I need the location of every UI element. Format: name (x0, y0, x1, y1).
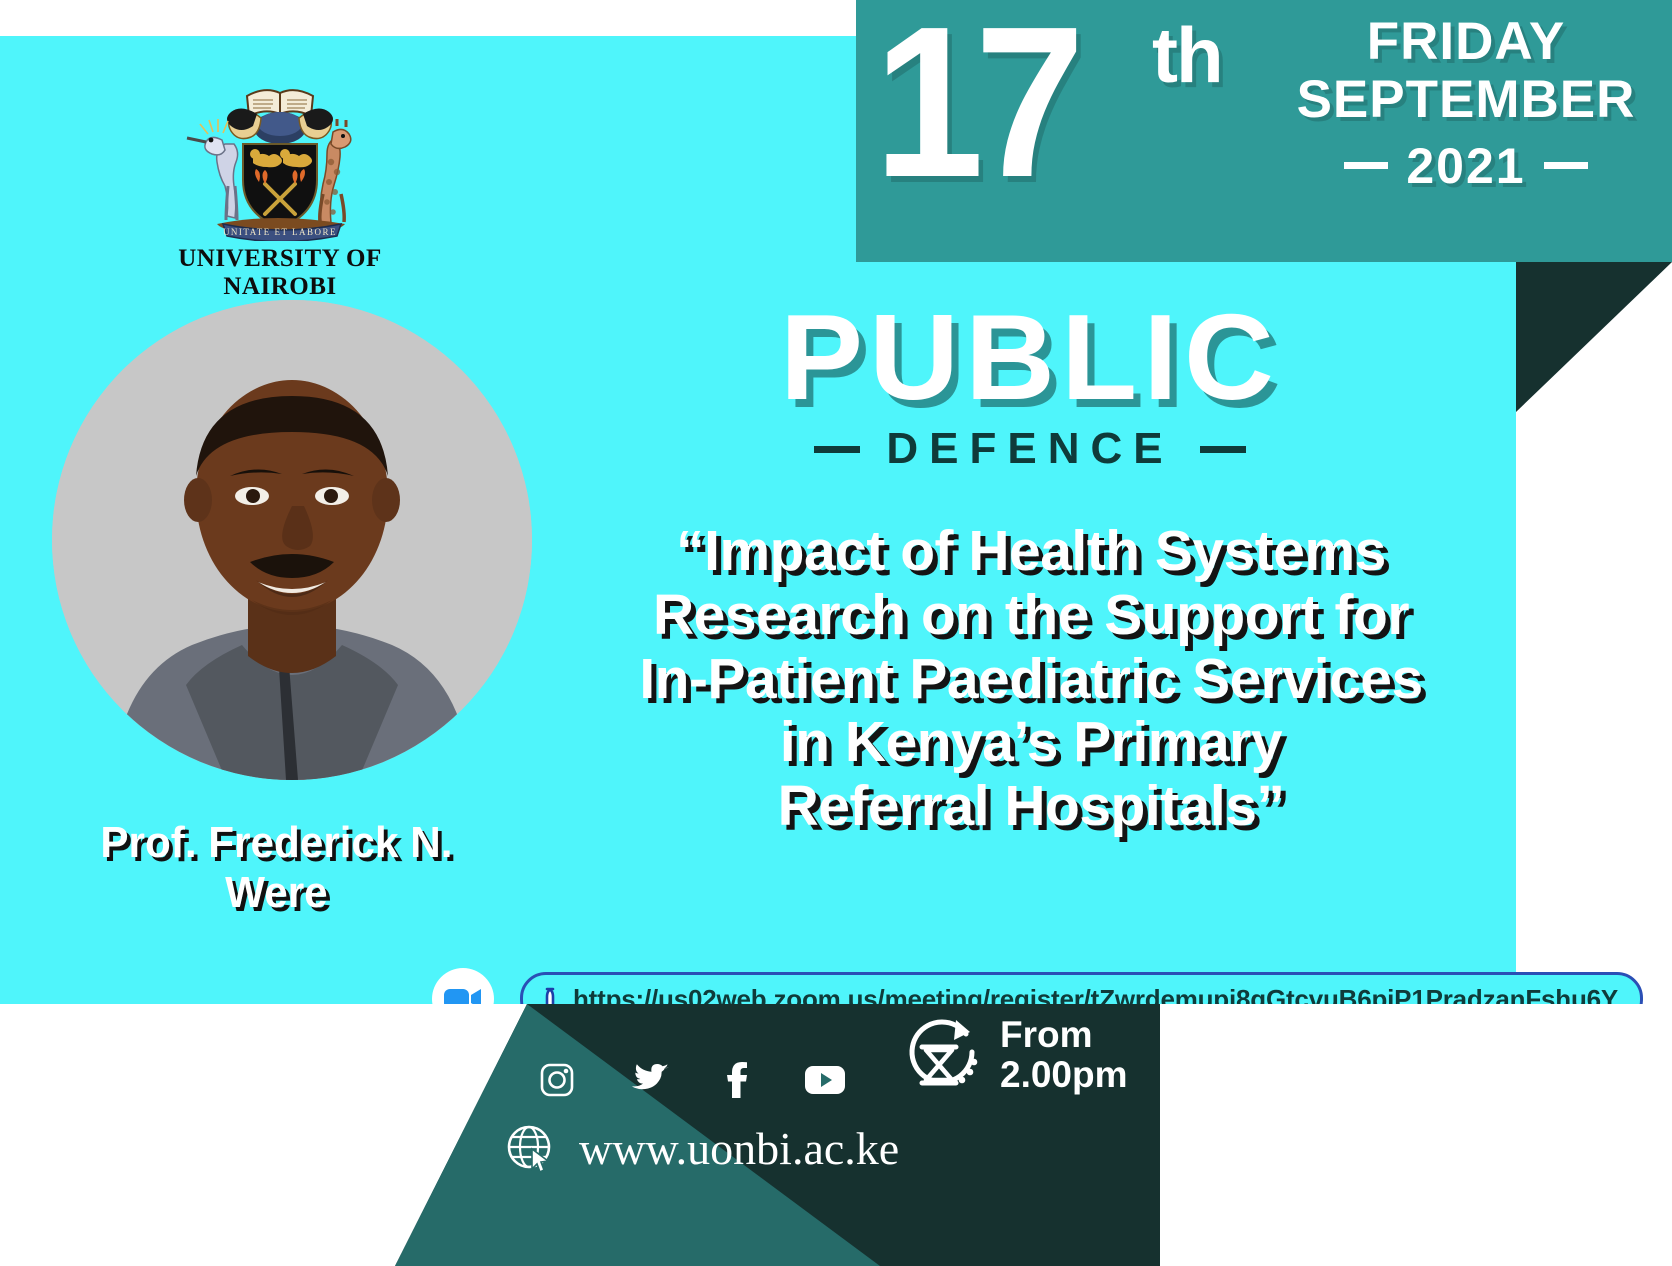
year-dash-left (1344, 162, 1388, 169)
event-subheading: DEFENCE (886, 424, 1173, 474)
time-text: From 2.00pm (1000, 1015, 1128, 1095)
speaker-photo-illustration (52, 300, 532, 780)
thesis-title: “Impact of Health Systems Research on th… (556, 520, 1506, 839)
date-banner: 17 th FRIDAY SEPTEMBER 2021 (856, 0, 1672, 262)
public-defence-poster: 17 th FRIDAY SEPTEMBER 2021 (0, 0, 1672, 1266)
date-month: SEPTEMBER (1266, 70, 1666, 131)
date-day-number: 17 (874, 0, 1076, 209)
subheading-dash-left (814, 446, 860, 453)
globe-cursor-icon (505, 1123, 557, 1175)
date-year-row: 2021 (1266, 137, 1666, 195)
year-dash-right (1544, 162, 1588, 169)
speaker-name: Prof. Frederick N. Were (46, 818, 507, 918)
dark-corner-wedge (1516, 262, 1672, 412)
instagram-icon[interactable] (540, 1063, 574, 1097)
event-heading-block: PUBLIC DEFENCE (560, 296, 1500, 474)
website-url[interactable]: www.uonbi.ac.ke (579, 1122, 899, 1175)
time-block: From 2.00pm (900, 1012, 1128, 1098)
thesis-title-line-3: In-Patient Paediatric Services (556, 648, 1506, 712)
time-prefix: From (1000, 1015, 1128, 1055)
university-logo-block: UNITATE ET LABORE UNIVERSITY OF NAIROBI (130, 66, 430, 301)
svg-text:UNITATE ET LABORE: UNITATE ET LABORE (223, 227, 337, 237)
thesis-title-line-5: Referral Hospitals” (556, 775, 1506, 839)
thesis-title-line-4: in Kenya’s Primary (556, 711, 1506, 775)
thesis-title-line-2: Research on the Support for (556, 584, 1506, 648)
hourglass-clock-icon (900, 1012, 986, 1098)
date-text-group: FRIDAY SEPTEMBER 2021 (1266, 14, 1666, 195)
date-day-of-week: FRIDAY (1266, 14, 1666, 70)
website-row[interactable]: www.uonbi.ac.ke (505, 1122, 899, 1175)
subheading-dash-right (1200, 446, 1246, 453)
time-value: 2.00pm (1000, 1055, 1128, 1095)
social-links (540, 1062, 846, 1098)
event-subheading-row: DEFENCE (560, 424, 1500, 474)
thesis-title-line-1: “Impact of Health Systems (556, 520, 1506, 584)
twitter-icon[interactable] (630, 1063, 670, 1097)
university-name: UNIVERSITY OF NAIROBI (130, 245, 430, 301)
facebook-icon[interactable] (726, 1062, 748, 1098)
event-heading: PUBLIC (551, 296, 1510, 418)
youtube-icon[interactable] (804, 1065, 846, 1095)
date-year: 2021 (1406, 137, 1525, 195)
coat-of-arms-icon: UNITATE ET LABORE (165, 66, 395, 241)
speaker-portrait (52, 300, 532, 780)
date-day-suffix: th (1152, 10, 1222, 101)
